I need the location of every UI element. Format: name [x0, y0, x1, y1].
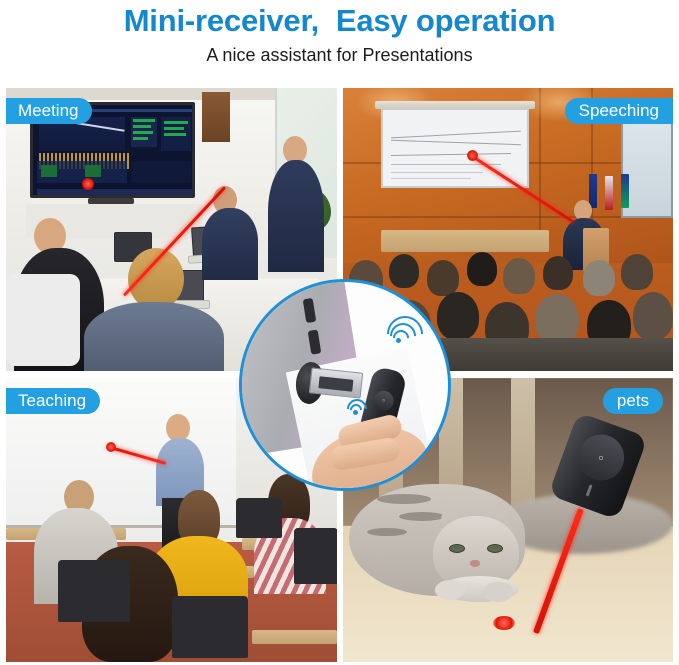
laptop-port: [308, 329, 322, 354]
crowd-head: [427, 260, 459, 296]
page-title: Mini-receiver, Easy operation: [0, 0, 679, 39]
badge-teaching: Teaching: [6, 388, 100, 414]
pets-remote-led: [586, 484, 593, 496]
crowd-head: [535, 294, 579, 344]
badge-speeching: Speeching: [565, 98, 673, 124]
meeting-wood-cabinet: [202, 92, 230, 142]
speeching-flag-2: [605, 176, 613, 210]
teaching-laser-dot: [106, 442, 116, 452]
speeching-flag-3: [621, 174, 629, 208]
teaching-chair: [294, 528, 337, 584]
crowd-head: [503, 258, 535, 294]
crowd-head: [437, 292, 479, 340]
teaching-chair: [172, 596, 248, 658]
speeching-laser-dot: [467, 150, 478, 161]
crowd-head: [389, 254, 419, 288]
meeting-person-blonde-body: [84, 302, 224, 371]
header: Mini-receiver, Easy operation A nice ass…: [0, 0, 679, 86]
teaching-chair: [236, 498, 282, 538]
teaching-desk: [252, 630, 337, 644]
cat-nose: [470, 560, 480, 567]
cat-eye-right: [487, 544, 503, 553]
usb-contacts: [318, 376, 353, 391]
product-closeup-inset: ▫ ∧ ∨: [239, 279, 451, 491]
pets-scratching-post: [511, 378, 535, 510]
cat-eye-left: [449, 544, 465, 553]
meeting-laser-dot: [82, 178, 94, 190]
crowd-head: [621, 254, 653, 290]
crowd-head: [583, 260, 615, 296]
meeting-person-standing-body: [268, 160, 324, 272]
badge-pets: pets: [603, 388, 663, 414]
crowd-head: [633, 292, 673, 340]
teaching-chair: [58, 560, 130, 622]
cat-paw-left: [435, 580, 465, 600]
badge-meeting: Meeting: [6, 98, 92, 124]
meeting-person-seated-body: [202, 208, 258, 280]
page-subtitle: A nice assistant for Presentations: [0, 43, 679, 67]
remote-signal-icon: [394, 312, 440, 358]
screen-icon: ▫: [599, 450, 604, 465]
usb-signal-icon: [352, 394, 382, 424]
product-infographic: Mini-receiver, Easy operation A nice ass…: [0, 0, 679, 665]
crowd-head: [543, 256, 573, 290]
pets-remote-laser-button[interactable]: ▫: [572, 428, 631, 487]
speeching-head-table: [381, 230, 549, 252]
cat-paw-right: [483, 582, 513, 602]
pets-laser-dot: [493, 616, 515, 630]
meeting-chair: [6, 274, 80, 366]
crowd-head: [467, 252, 497, 286]
speeching-flag-1: [589, 174, 597, 208]
laptop-port: [303, 298, 317, 323]
